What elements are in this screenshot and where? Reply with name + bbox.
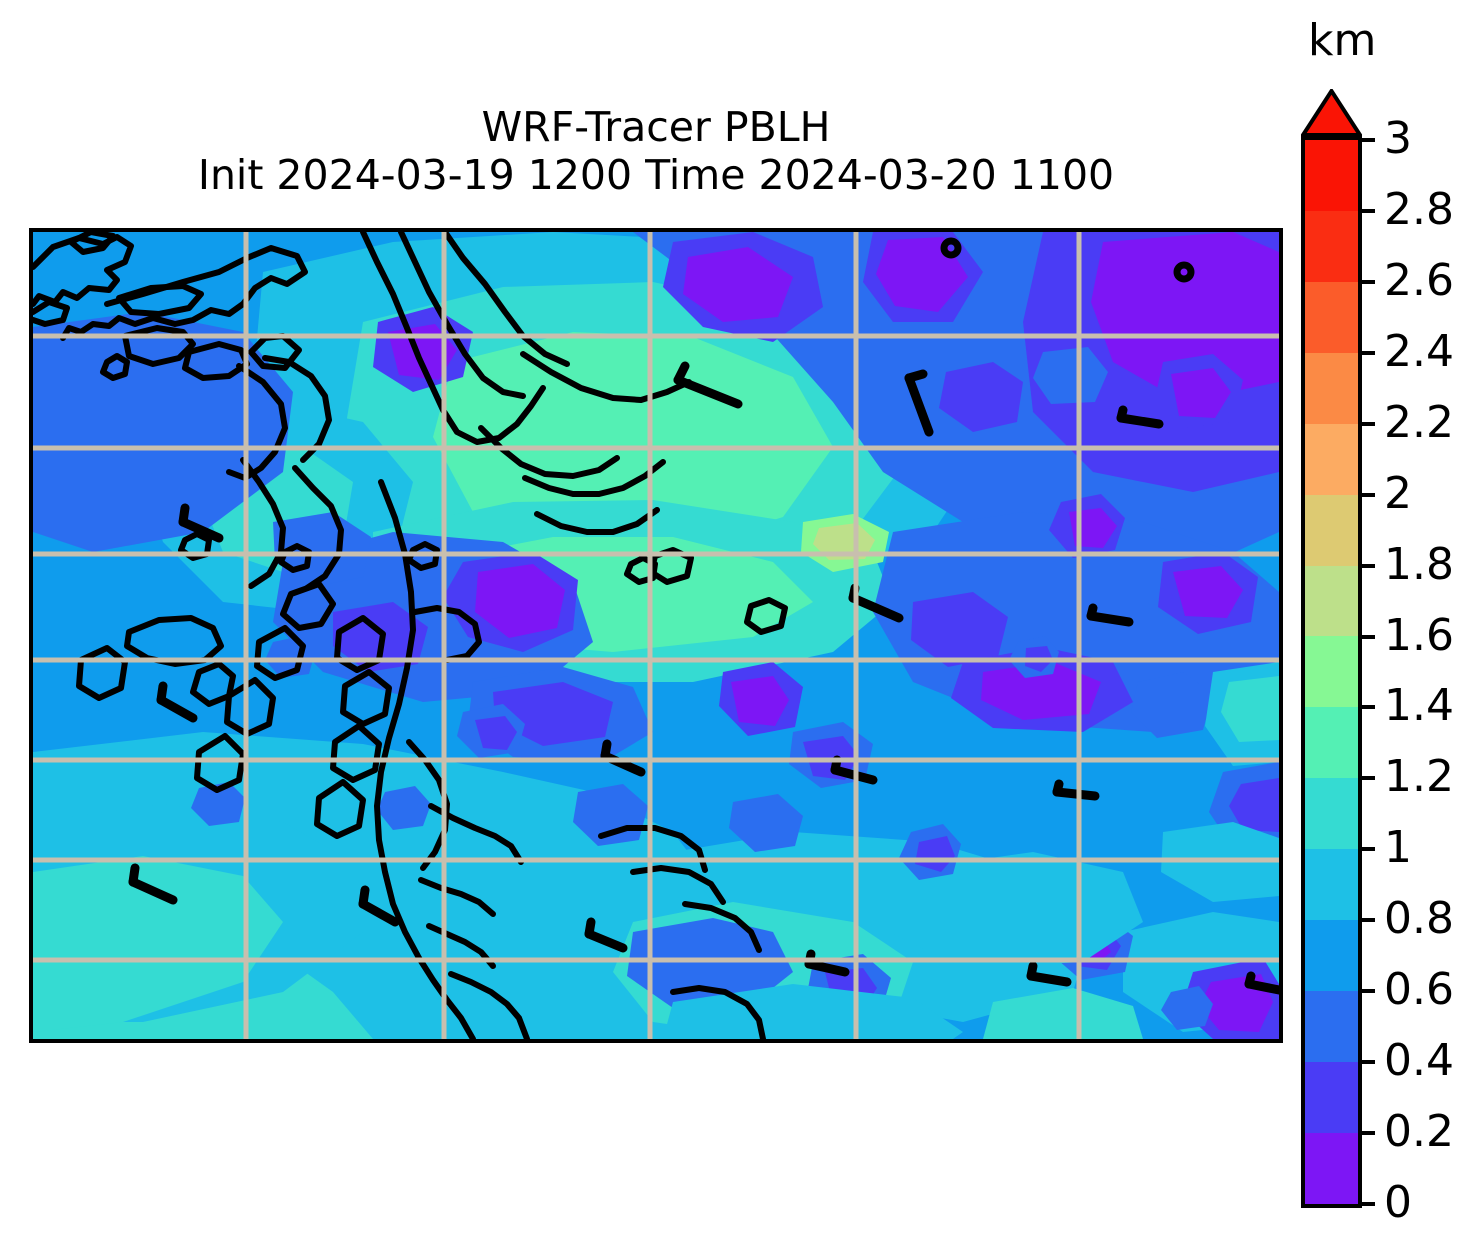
colorbar-tick-label: 0 <box>1384 1180 1412 1226</box>
colorbar-tick-mark <box>1362 847 1375 851</box>
title-line-primary: WRF-Tracer PBLH <box>29 104 1283 152</box>
colorbar-tick-mark <box>1362 1202 1375 1206</box>
colorbar-segment <box>1305 778 1358 849</box>
colorbar-tick-label: 1 <box>1384 825 1412 871</box>
colorbar-segment <box>1305 495 1358 566</box>
colorbar-segment <box>1305 1133 1358 1204</box>
colorbar-tick-mark <box>1362 493 1375 497</box>
colorbar-segment <box>1305 424 1358 495</box>
colorbar-segment <box>1305 566 1358 637</box>
map-plot-area <box>29 228 1283 1043</box>
colorbar-tick-label: 0.4 <box>1384 1038 1454 1084</box>
colorbar-segment <box>1305 636 1358 707</box>
colorbar-tick-mark <box>1362 1060 1375 1064</box>
colorbar[interactable]: 00.20.40.60.811.21.41.61.822.22.42.62.83 <box>1301 136 1362 1208</box>
colorbar-tick-mark <box>1362 564 1375 568</box>
colorbar-tick-label: 1.4 <box>1384 683 1454 729</box>
colorbar-tick-mark <box>1362 138 1375 142</box>
colorbar-tick-mark <box>1362 989 1375 993</box>
colorbar-tick-mark <box>1362 351 1375 355</box>
colorbar-segment <box>1305 849 1358 920</box>
colorbar-segment <box>1305 707 1358 778</box>
colorbar-tick-label: 0.6 <box>1384 967 1454 1013</box>
chart-title: WRF-Tracer PBLH Init 2024-03-19 1200 Tim… <box>29 104 1283 199</box>
colorbar-segment <box>1305 211 1358 282</box>
colorbar-gradient[interactable] <box>1301 136 1362 1208</box>
colorbar-tick-mark <box>1362 635 1375 639</box>
colorbar-tick-mark <box>1362 280 1375 284</box>
colorbar-tick-mark <box>1362 209 1375 213</box>
colorbar-tick-mark <box>1362 776 1375 780</box>
colorbar-tick-label: 1.6 <box>1384 613 1454 659</box>
colorbar-segment <box>1305 353 1358 424</box>
colorbar-tick-label: 2.6 <box>1384 258 1454 304</box>
colorbar-segment <box>1305 282 1358 353</box>
colorbar-tick-label: 2.4 <box>1384 329 1454 375</box>
map-svg <box>33 232 1279 1039</box>
colorbar-segment <box>1305 920 1358 991</box>
colorbar-tick-mark <box>1362 1131 1375 1135</box>
colorbar-extend-max-arrow <box>1301 89 1362 136</box>
colorbar-tick-label: 0.2 <box>1384 1109 1454 1155</box>
colorbar-tick-label: 0.8 <box>1384 896 1454 942</box>
colorbar-segment <box>1305 991 1358 1062</box>
colorbar-unit-label: km <box>1308 16 1376 66</box>
title-line-secondary: Init 2024-03-19 1200 Time 2024-03-20 110… <box>29 152 1283 200</box>
colorbar-segment <box>1305 140 1358 211</box>
colorbar-segment <box>1305 1062 1358 1133</box>
colorbar-ticks: 00.20.40.60.811.21.41.61.822.22.42.62.83 <box>1362 136 1472 1208</box>
figure-canvas: WRF-Tracer PBLH Init 2024-03-19 1200 Tim… <box>0 0 1475 1256</box>
colorbar-tick-mark <box>1362 918 1375 922</box>
colorbar-tick-label: 3 <box>1384 116 1412 162</box>
map-contour-field <box>33 232 1279 1039</box>
colorbar-tick-label: 2.8 <box>1384 187 1454 233</box>
colorbar-tick-label: 2 <box>1384 471 1412 517</box>
colorbar-tick-mark <box>1362 422 1375 426</box>
colorbar-tick-label: 1.8 <box>1384 542 1454 588</box>
colorbar-tick-label: 2.2 <box>1384 400 1454 446</box>
colorbar-tick-mark <box>1362 705 1375 709</box>
colorbar-tick-label: 1.2 <box>1384 754 1454 800</box>
